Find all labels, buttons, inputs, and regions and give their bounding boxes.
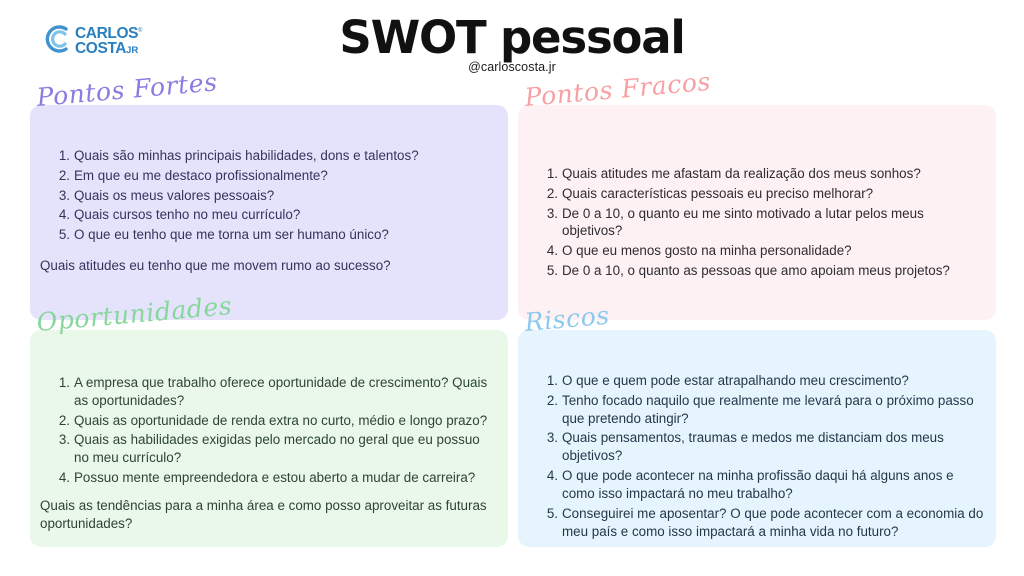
list-item: De 0 a 10, o quanto eu me sinto motivado… bbox=[540, 205, 984, 241]
page-title: SWOT pessoal bbox=[0, 14, 1024, 61]
question-list-opportunities: A empresa que trabalho oferece oportunid… bbox=[52, 374, 496, 489]
list-item: Quais atitudes me afastam da realização … bbox=[540, 165, 984, 183]
question-list-weaknesses: Quais atitudes me afastam da realização … bbox=[540, 165, 984, 282]
page-title-block: SWOT pessoal bbox=[0, 14, 1024, 61]
list-item: Quais características pessoais eu precis… bbox=[540, 185, 984, 203]
question-list-strengths: Quais são minhas principais habilidades,… bbox=[52, 147, 496, 246]
list-item: A empresa que trabalho oferece oportunid… bbox=[52, 374, 496, 410]
swot-panel-risks: Riscos O que e quem pode estar atrapalha… bbox=[518, 330, 996, 547]
swot-panel-weaknesses: Pontos Fracos Quais atitudes me afastam … bbox=[518, 105, 996, 320]
list-item: Quais cursos tenho no meu currículo? bbox=[52, 206, 496, 224]
question-list-risks: O que e quem pode estar atrapalhando meu… bbox=[540, 372, 984, 542]
list-item: O que pode acontecer na minha profissão … bbox=[540, 467, 984, 503]
list-item: Quais as oportunidade de renda extra no … bbox=[52, 412, 496, 430]
list-item: Quais são minhas principais habilidades,… bbox=[52, 147, 496, 165]
trailing-question-strengths: Quais atitudes eu tenho que me movem rum… bbox=[40, 257, 496, 275]
list-item: O que eu menos gosto na minha personalid… bbox=[540, 242, 984, 260]
swot-grid: Pontos Fortes Quais são minhas principai… bbox=[0, 88, 1024, 576]
list-item: Tenho focado naquilo que realmente me le… bbox=[540, 392, 984, 428]
list-item: Em que eu me destaco profissionalmente? bbox=[52, 167, 496, 185]
list-item: Quais os meus valores pessoais? bbox=[52, 187, 496, 205]
list-item: De 0 a 10, o quanto as pessoas que amo a… bbox=[540, 262, 984, 280]
trailing-question-opportunities: Quais as tendências para a minha área e … bbox=[40, 497, 496, 533]
list-item: Quais as habilidades exigidas pelo merca… bbox=[52, 431, 496, 467]
panel-heading-risks: Riscos bbox=[523, 301, 610, 337]
list-item: Quais pensamentos, traumas e medos me di… bbox=[540, 429, 984, 465]
list-item: O que eu tenho que me torna um ser human… bbox=[52, 226, 496, 244]
list-item: Possuo mente empreendedora e estou abert… bbox=[52, 469, 496, 487]
list-item: O que e quem pode estar atrapalhando meu… bbox=[540, 372, 984, 390]
list-item: Conseguirei me aposentar? O que pode aco… bbox=[540, 505, 984, 541]
swot-panel-opportunities: Oportunidades A empresa que trabalho ofe… bbox=[30, 330, 508, 547]
swot-panel-strengths: Pontos Fortes Quais são minhas principai… bbox=[30, 105, 508, 320]
